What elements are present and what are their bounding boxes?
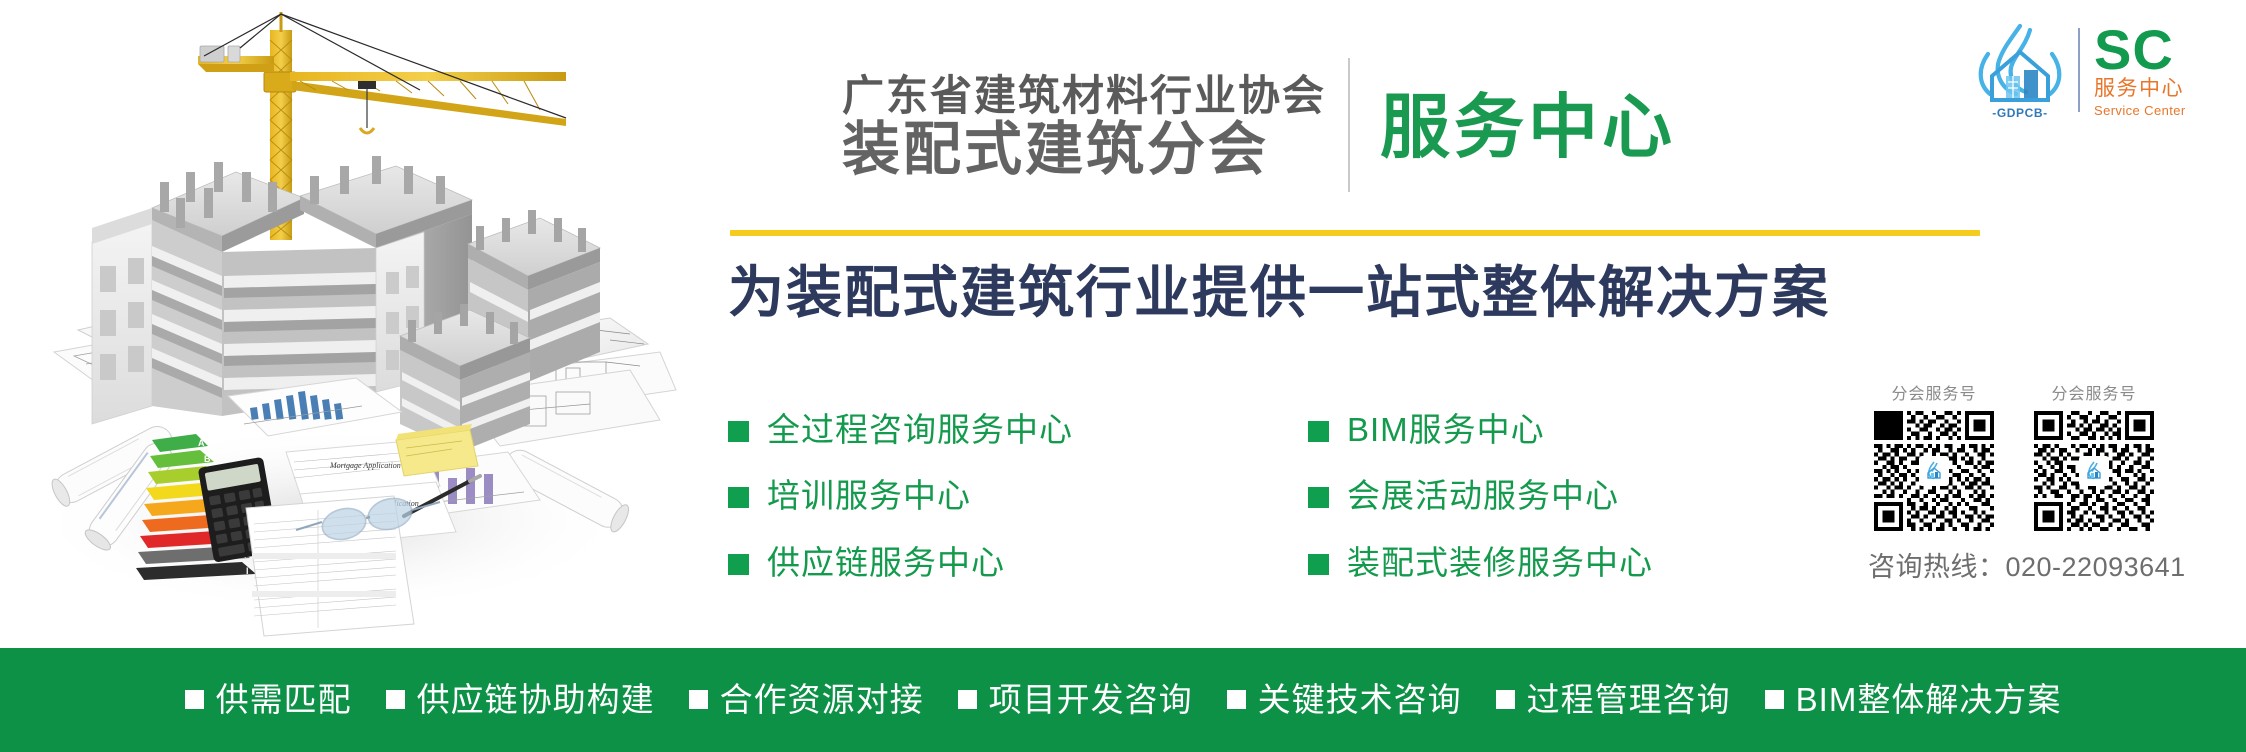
- svg-text:B: B: [204, 454, 211, 464]
- qr-contact-block: 分会服务号: [1868, 380, 2198, 584]
- header-title-block: 广东省建筑材料行业协会 装配式建筑分会 服务中心: [842, 52, 1992, 202]
- list-item[interactable]: 合作资源对接: [689, 682, 924, 718]
- logo-cn-label: 服务中心: [2094, 76, 2224, 102]
- square-bullet-icon: [1496, 690, 1515, 709]
- list-item[interactable]: 全过程咨询服务中心: [728, 412, 1073, 448]
- service-label: 培训服务中心: [767, 478, 971, 514]
- logo-divider-icon: [2078, 28, 2080, 112]
- square-bullet-icon: [689, 690, 708, 709]
- title-divider-icon: [1348, 58, 1350, 192]
- square-bullet-icon: [728, 487, 749, 508]
- qr-cell: 分会服务号: [1868, 380, 2000, 531]
- qr-caption: 分会服务号: [1868, 380, 2000, 404]
- service-label: 会展活动服务中心: [1347, 478, 1619, 514]
- service-label: 装配式装修服务中心: [1347, 545, 1653, 581]
- org-name-line1: 广东省建筑材料行业协会: [842, 72, 1326, 119]
- square-bullet-icon: [386, 690, 405, 709]
- service-label: BIM服务中心: [1347, 412, 1545, 448]
- square-bullet-icon: [728, 421, 749, 442]
- square-bullet-icon: [1308, 554, 1329, 575]
- square-bullet-icon: [185, 690, 204, 709]
- service-label: 全过程咨询服务中心: [767, 412, 1073, 448]
- keyword-label: BIM整体解决方案: [1796, 682, 2062, 718]
- list-item[interactable]: 供需匹配: [185, 682, 352, 718]
- keyword-label: 供需匹配: [216, 682, 352, 718]
- square-bullet-icon: [958, 690, 977, 709]
- keyword-label: 过程管理咨询: [1527, 682, 1731, 718]
- list-item[interactable]: 培训服务中心: [728, 478, 1073, 514]
- qr-cell: 分会服务号: [2028, 380, 2160, 531]
- keyword-label: 项目开发咨询: [989, 682, 1193, 718]
- logo-en-label: Service Center: [2094, 103, 2224, 119]
- square-bullet-icon: [1308, 487, 1329, 508]
- square-bullet-icon: [1227, 690, 1246, 709]
- keyword-label: 合作资源对接: [720, 682, 924, 718]
- keyword-label: 供应链协助构建: [417, 682, 655, 718]
- svg-text:Mortgage Application: Mortgage Application: [329, 461, 401, 470]
- list-item[interactable]: 过程管理咨询: [1496, 682, 1731, 718]
- qr-code-icon[interactable]: [1874, 411, 1994, 531]
- brand-logo: -GDPCB- SC 服务中心 Service Center: [1968, 14, 2224, 126]
- list-item[interactable]: BIM服务中心: [1308, 412, 1653, 448]
- svg-text:A: A: [198, 438, 205, 448]
- flame-house-icon: [1919, 456, 1949, 486]
- svg-text:I: I: [246, 566, 249, 576]
- service-list-left: 全过程咨询服务中心 培训服务中心 供应链服务中心: [728, 412, 1073, 581]
- service-list-right: BIM服务中心 会展活动服务中心 装配式装修服务中心: [1308, 412, 1653, 581]
- logo-abbr: SC: [2094, 24, 2224, 76]
- list-item[interactable]: 会展活动服务中心: [1308, 478, 1653, 514]
- list-item[interactable]: 装配式装修服务中心: [1308, 545, 1653, 581]
- list-item[interactable]: 关键技术咨询: [1227, 682, 1462, 718]
- service-center-title: 服务中心: [1380, 92, 1676, 162]
- banner-root: ABC DEF GHI: [0, 0, 2246, 752]
- keyword-label: 关键技术咨询: [1258, 682, 1462, 718]
- service-label: 供应链服务中心: [767, 545, 1005, 581]
- org-name-line2: 装配式建筑分会: [842, 119, 1326, 182]
- construction-site-3d-render-icon: ABC DEF GHI: [0, 0, 690, 648]
- hotline-text: 咨询热线：020-22093641: [1868, 545, 2198, 584]
- square-bullet-icon: [1308, 421, 1329, 442]
- qr-caption: 分会服务号: [2028, 380, 2160, 404]
- flame-house-icon: [2079, 456, 2109, 486]
- svg-text:-GDPCB-: -GDPCB-: [1992, 106, 2048, 120]
- square-bullet-icon: [728, 554, 749, 575]
- horizontal-gold-rule-icon: [730, 230, 1980, 236]
- list-item[interactable]: 供应链协助构建: [386, 682, 655, 718]
- bottom-keyword-bar: 供需匹配 供应链协助构建 合作资源对接 项目开发咨询 关键技术咨询 过程管理咨询…: [0, 648, 2246, 752]
- slogan-text: 为装配式建筑行业提供一站式整体解决方案: [728, 258, 2028, 328]
- list-item[interactable]: 供应链服务中心: [728, 545, 1073, 581]
- list-item[interactable]: BIM整体解决方案: [1765, 682, 2062, 718]
- square-bullet-icon: [1765, 690, 1784, 709]
- qr-code-icon[interactable]: [2034, 411, 2154, 531]
- list-item[interactable]: 项目开发咨询: [958, 682, 1193, 718]
